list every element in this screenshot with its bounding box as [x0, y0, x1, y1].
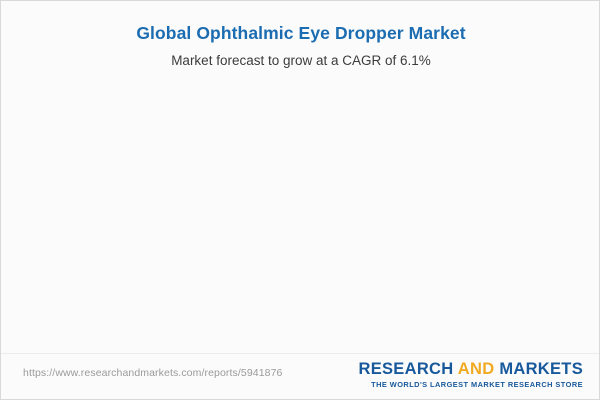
- logo-wordmark: RESEARCH AND MARKETS: [358, 360, 583, 379]
- chart-card: Global Ophthalmic Eye Dropper Market Mar…: [0, 0, 600, 400]
- logo-word-research: RESEARCH: [358, 360, 453, 378]
- footer: https://www.researchandmarkets.com/repor…: [1, 354, 600, 400]
- research-and-markets-logo[interactable]: RESEARCH AND MARKETS THE WORLD'S LARGEST…: [358, 360, 583, 390]
- source-url-link[interactable]: https://www.researchandmarkets.com/repor…: [23, 367, 282, 379]
- plot-area: USD 13.48 Billion 2023 USD 25.88 Billion: [1, 1, 600, 353]
- logo-word-and: AND: [458, 360, 495, 378]
- logo-tagline: THE WORLD'S LARGEST MARKET RESEARCH STOR…: [358, 380, 583, 390]
- logo-word-markets: MARKETS: [499, 360, 583, 378]
